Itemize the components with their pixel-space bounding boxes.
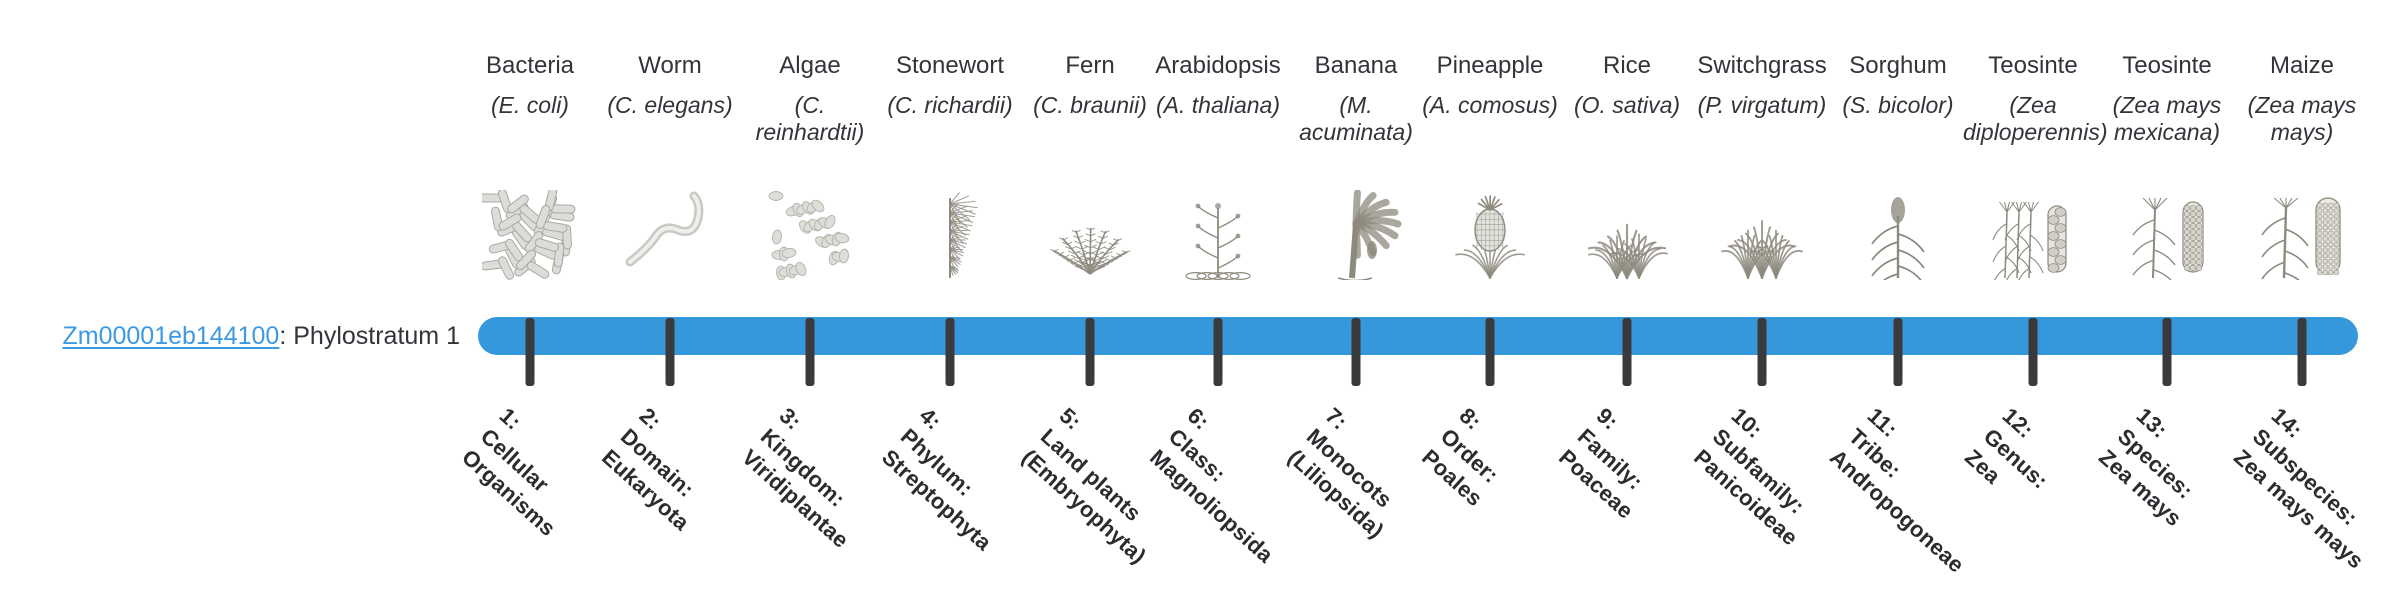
switchgrass-icon [1696,190,1828,280]
species-common-name: Maize [2232,52,2372,80]
species-latin-name: (Zea mays mexicana) [2097,92,2237,146]
species-latin-name: (Zea diploperennis) [1963,92,2103,146]
species-column-teosinte-12: Teosinte(Zea diploperennis) [1963,52,2103,146]
species-common-name: Algae [740,52,880,80]
phylostratum-tick-8[interactable] [1486,318,1495,386]
phylostratum-value: Phylostratum 1 [293,322,460,350]
worm-icon [604,190,736,280]
species-common-name: Arabidopsis [1148,52,1288,80]
species-latin-name: (M. acuminata) [1286,92,1426,146]
species-latin-name: (A. thaliana) [1148,92,1288,119]
phylostratum-tick-2[interactable] [666,318,675,386]
species-column-worm-2: Worm(C. elegans) [600,52,740,119]
species-latin-name: (C. elegans) [600,92,740,119]
species-column-arabidopsis-6: Arabidopsis(A. thaliana) [1148,52,1288,119]
phylostratum-timeline-figure: Zm00001eb144100: Phylostratum 1 Bacteria… [0,0,2400,580]
teosinte-diploperennis-icon [1967,190,2099,280]
species-common-name: Stonewort [880,52,1020,80]
phylostratum-tick-5[interactable] [1086,318,1095,386]
stonewort-icon [884,190,1016,280]
species-latin-name: (C. braunii) [1020,92,1160,119]
bacteria-icon [464,190,596,280]
species-common-name: Teosinte [1963,52,2103,80]
maize-icon [2236,190,2368,280]
species-column-switchgrass-10: Switchgrass(P. virgatum) [1692,52,1832,119]
species-common-name: Sorghum [1828,52,1968,80]
sorghum-icon [1832,190,1964,280]
species-latin-name: (C. richardii) [880,92,1020,119]
phylostratum-tick-13[interactable] [2163,318,2172,386]
species-common-name: Bacteria [460,52,600,80]
phylostratum-tick-12[interactable] [2029,318,2038,386]
species-common-name: Banana [1286,52,1426,80]
species-column-maize-14: Maize(Zea mays mays) [2232,52,2372,146]
phylostratum-tick-10[interactable] [1758,318,1767,386]
pineapple-icon [1424,190,1556,280]
phylostratum-tick-6[interactable] [1214,318,1223,386]
banana-icon [1290,190,1422,280]
species-common-name: Switchgrass [1692,52,1832,80]
phylostratum-tick-11[interactable] [1894,318,1903,386]
species-common-name: Rice [1557,52,1697,80]
species-column-stonewort-4: Stonewort(C. richardii) [880,52,1020,119]
species-latin-name: (E. coli) [460,92,600,119]
species-latin-name: (O. sativa) [1557,92,1697,119]
species-column-algae-3: Algae(C. reinhardtii) [740,52,880,146]
species-latin-name: (C. reinhardtii) [740,92,880,146]
phylostratum-tick-14[interactable] [2298,318,2307,386]
species-column-sorghum-11: Sorghum(S. bicolor) [1828,52,1968,119]
gene-label-separator: : [279,322,293,350]
species-common-name: Fern [1020,52,1160,80]
phylostratum-tick-7[interactable] [1352,318,1361,386]
phylostratum-tick-9[interactable] [1623,318,1632,386]
gene-phylostratum-label: Zm00001eb144100: Phylostratum 1 [40,321,460,351]
species-common-name: Teosinte [2097,52,2237,80]
phylostratum-span-bar[interactable] [478,317,2358,355]
species-column-fern-5: Fern(C. braunii) [1020,52,1160,119]
teosinte-mexicana-icon [2101,190,2233,280]
species-column-bacteria-1: Bacteria(E. coli) [460,52,600,119]
algae-icon [744,190,876,280]
species-column-teosinte-13: Teosinte(Zea mays mexicana) [2097,52,2237,146]
species-column-pineapple-8: Pineapple(A. comosus) [1420,52,1560,119]
species-common-name: Worm [600,52,740,80]
species-latin-name: (S. bicolor) [1828,92,1968,119]
species-latin-name: (Zea mays mays) [2232,92,2372,146]
fern-icon [1024,190,1156,280]
gene-id-link[interactable]: Zm00001eb144100 [62,322,279,350]
species-column-banana-7: Banana(M. acuminata) [1286,52,1426,146]
species-common-name: Pineapple [1420,52,1560,80]
rice-icon [1561,190,1693,280]
species-latin-name: (P. virgatum) [1692,92,1832,119]
phylostratum-tick-4[interactable] [946,318,955,386]
phylostratum-tick-1[interactable] [526,318,535,386]
phylostratum-tick-3[interactable] [806,318,815,386]
species-latin-name: (A. comosus) [1420,92,1560,119]
arabidopsis-icon [1152,190,1284,280]
species-column-rice-9: Rice(O. sativa) [1557,52,1697,119]
